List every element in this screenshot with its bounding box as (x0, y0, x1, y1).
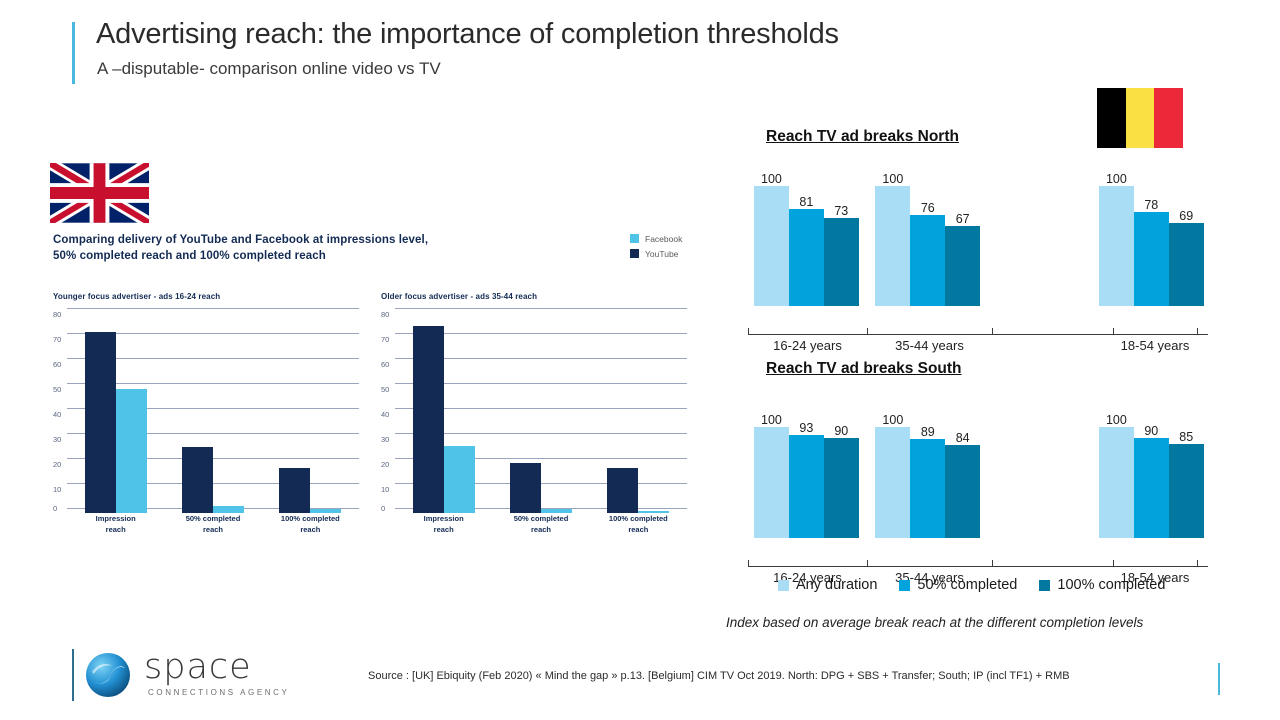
legend-item-any-duration: Any duration (778, 577, 877, 593)
value-label-any-18-54: 100 (1106, 413, 1127, 427)
ytick-10: 10 (381, 485, 395, 494)
bar-100-18-54 (1169, 444, 1204, 538)
bar-group-35-44: 100 76 67 (875, 156, 980, 306)
bar-50-16-24 (789, 209, 824, 306)
legend-item-100-completed: 100% completed (1039, 577, 1165, 593)
bar-group-18-54: 100 78 69 (1099, 156, 1204, 306)
bar-group-50-completed (168, 308, 259, 513)
chart-title-uk-older: Older focus advertiser - ads 35-44 reach (381, 292, 537, 301)
bar-any-16-24 (754, 427, 789, 538)
source-accent-rule (1218, 663, 1220, 695)
space-logo: space CONNECTIONS AGENCY (72, 645, 312, 707)
uk-flag-icon (50, 163, 149, 223)
legend-item-50-completed: 50% completed (899, 577, 1017, 593)
logo-tagline: CONNECTIONS AGENCY (148, 688, 289, 697)
bar-youtube-50 (182, 447, 213, 513)
bars-be-south: 100 93 90 100 89 (748, 388, 1208, 538)
bar-group-100-completed (265, 308, 356, 513)
value-label-100-18-54: 85 (1179, 430, 1193, 444)
value-label-50-16-24: 93 (799, 421, 813, 435)
uk-chart-legend: Facebook YouTube (630, 232, 725, 262)
bar-youtube-impression (85, 332, 116, 513)
xlabel-impression-reach: Impression reach (70, 513, 161, 535)
chart-uk-younger-focus: Younger focus advertiser - ads 16-24 rea… (45, 292, 365, 550)
plot-area-uk-older: 80 70 60 50 40 30 20 10 0 (381, 308, 693, 513)
page-subtitle: A –disputable- comparison online video v… (97, 59, 441, 79)
ytick-20: 20 (381, 460, 395, 469)
bar-youtube-100 (279, 468, 310, 513)
ytick-20: 20 (53, 460, 67, 469)
ytick-60: 60 (381, 360, 395, 369)
source-box: Source : [UK] Ebiquity (Feb 2020) « Mind… (360, 663, 1220, 695)
chart-title-uk-younger: Younger focus advertiser - ads 16-24 rea… (53, 292, 220, 301)
value-label-50-18-54: 78 (1144, 198, 1158, 212)
ytick-70: 70 (53, 335, 67, 344)
value-label-any-18-54: 100 (1106, 172, 1127, 186)
chart-title-be-south: Reach TV ad breaks South (766, 360, 962, 378)
legend-label-100-completed: 100% completed (1057, 577, 1165, 593)
value-label-any-16-24: 100 (761, 413, 782, 427)
page-header: Advertising reach: the importance of com… (72, 18, 1032, 88)
chart-be-north: Reach TV ad breaks North 100 81 73 (748, 128, 1208, 333)
legend-swatch-youtube (630, 249, 639, 258)
bar-youtube-50 (510, 463, 541, 513)
legend-swatch-100-completed (1039, 580, 1050, 591)
legend-item-youtube: YouTube (630, 247, 725, 260)
bar-100-35-44 (945, 445, 980, 538)
bar-group-empty (980, 388, 1085, 538)
bar-group-50-completed (496, 308, 587, 513)
value-label-50-18-54: 90 (1144, 424, 1158, 438)
bar-group-18-54: 100 90 85 (1099, 388, 1204, 538)
xlabel-16-24: 16-24 years (748, 338, 867, 353)
bar-youtube-100 (607, 468, 638, 513)
chart-title-be-north: Reach TV ad breaks North (766, 128, 959, 146)
value-label-100-35-44: 84 (956, 431, 970, 445)
bar-100-16-24 (824, 218, 859, 306)
chart-be-south: Reach TV ad breaks South 100 93 90 (748, 360, 1208, 565)
ytick-30: 30 (53, 435, 67, 444)
bar-100-18-54 (1169, 223, 1204, 306)
value-label-any-35-44: 100 (882, 172, 903, 186)
value-label-100-35-44: 67 (956, 212, 970, 226)
bar-any-16-24 (754, 186, 789, 306)
ytick-10: 10 (53, 485, 67, 494)
bar-facebook-50 (213, 506, 244, 513)
ytick-80: 80 (381, 310, 395, 319)
bar-facebook-impression (116, 389, 147, 513)
ytick-0: 0 (381, 504, 395, 513)
source-text: Source : [UK] Ebiquity (Feb 2020) « Mind… (368, 670, 1070, 682)
value-label-100-16-24: 73 (834, 204, 848, 218)
uk-heading-line-1: Comparing delivery of YouTube and Facebo… (53, 232, 473, 248)
bar-100-35-44 (945, 226, 980, 306)
ytick-60: 60 (53, 360, 67, 369)
bar-any-35-44 (875, 427, 910, 538)
ytick-0: 0 (53, 504, 67, 513)
bar-group-35-44: 100 89 84 (875, 388, 980, 538)
plot-area-uk-younger: 80 70 60 50 40 30 20 10 0 (53, 308, 365, 513)
logo-wordmark: space (144, 647, 252, 687)
value-label-50-16-24: 81 (799, 195, 813, 209)
value-label-any-35-44: 100 (882, 413, 903, 427)
bar-group-impression-reach (398, 308, 489, 513)
uk-heading-line-2: 50% completed reach and 100% completed r… (53, 248, 473, 264)
bar-group-16-24: 100 93 90 (754, 388, 859, 538)
bars-uk-older (395, 308, 687, 513)
xlabel-18-54: 18-54 years (1113, 338, 1197, 353)
plot-area-be-south: 100 93 90 100 89 (748, 388, 1208, 538)
bar-group-empty (980, 156, 1085, 306)
legend-swatch-50-completed (899, 580, 910, 591)
bar-group-16-24: 100 81 73 (754, 156, 859, 306)
xaxis-line-be-south (748, 566, 1208, 567)
plot-area-be-north: 100 81 73 100 76 (748, 156, 1208, 306)
legend-label-youtube: YouTube (645, 249, 678, 259)
bar-any-35-44 (875, 186, 910, 306)
be-index-note: Index based on average break reach at th… (726, 615, 1143, 630)
legend-label-facebook: Facebook (645, 234, 682, 244)
legend-item-facebook: Facebook (630, 232, 725, 245)
value-label-50-35-44: 76 (921, 201, 935, 215)
be-charts-legend: Any duration 50% completed 100% complete… (778, 577, 1187, 593)
page-title: Advertising reach: the importance of com… (96, 18, 839, 51)
legend-label-50-completed: 50% completed (917, 577, 1017, 593)
bar-50-35-44 (910, 215, 945, 306)
ytick-50: 50 (53, 385, 67, 394)
ytick-70: 70 (381, 335, 395, 344)
xaxis-uk-younger: Impression reach 50% completed reach 100… (67, 513, 359, 535)
header-accent-bar (72, 22, 75, 84)
xlabel-impression-reach: Impression reach (398, 513, 489, 535)
value-label-50-35-44: 89 (921, 425, 935, 439)
ytick-40: 40 (53, 410, 67, 419)
legend-swatch-facebook (630, 234, 639, 243)
bar-group-impression-reach (70, 308, 161, 513)
ytick-40: 40 (381, 410, 395, 419)
legend-swatch-any-duration (778, 580, 789, 591)
ytick-50: 50 (381, 385, 395, 394)
xlabel-100-completed-reach: 100% completed reach (265, 513, 356, 535)
bar-youtube-impression (413, 326, 444, 513)
xaxis-line-be-north (748, 334, 1208, 335)
xaxis-uk-older: Impression reach 50% completed reach 100… (395, 513, 687, 535)
bar-50-18-54 (1134, 438, 1169, 538)
bar-50-16-24 (789, 435, 824, 538)
bar-group-100-completed (593, 308, 684, 513)
bars-be-north: 100 81 73 100 76 (748, 156, 1208, 306)
bar-any-18-54 (1099, 427, 1134, 538)
logo-orb-icon (85, 652, 131, 698)
bar-any-18-54 (1099, 186, 1134, 306)
value-label-any-16-24: 100 (761, 172, 782, 186)
ytick-30: 30 (381, 435, 395, 444)
bar-100-16-24 (824, 438, 859, 538)
value-label-100-18-54: 69 (1179, 209, 1193, 223)
bar-50-18-54 (1134, 212, 1169, 306)
xlabel-35-44: 35-44 years (867, 338, 992, 353)
uk-charts-panel: Comparing delivery of YouTube and Facebo… (45, 232, 705, 552)
bars-uk-younger (67, 308, 359, 513)
value-label-100-16-24: 90 (834, 424, 848, 438)
ytick-80: 80 (53, 310, 67, 319)
xlabel-100-completed-reach: 100% completed reach (593, 513, 684, 535)
xlabel-50-completed-reach: 50% completed reach (168, 513, 259, 535)
bar-50-35-44 (910, 439, 945, 538)
logo-accent-bar (72, 649, 74, 701)
xlabel-50-completed-reach: 50% completed reach (496, 513, 587, 535)
chart-uk-older-focus: Older focus advertiser - ads 35-44 reach… (373, 292, 693, 550)
xlabels-be-north: 16-24 years 35-44 years 18-54 years (748, 338, 1208, 360)
bar-facebook-impression (444, 446, 475, 513)
uk-panel-heading: Comparing delivery of YouTube and Facebo… (53, 232, 473, 264)
legend-label-any-duration: Any duration (796, 577, 877, 593)
